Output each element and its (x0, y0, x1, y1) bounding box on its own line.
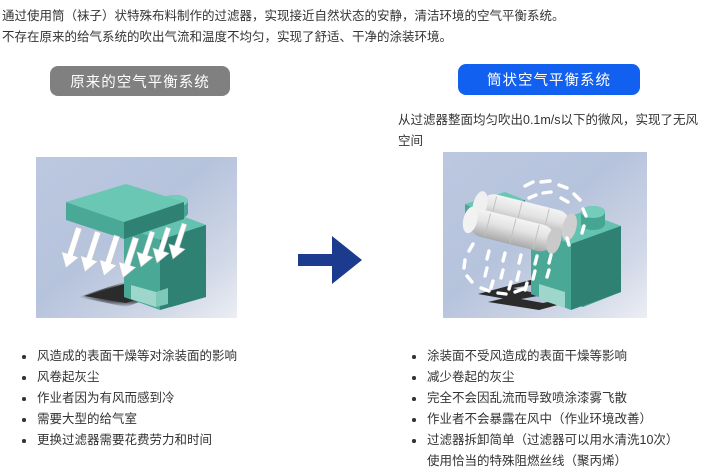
list-item: 过滤器拆卸简单（过滤器可以用水清洗10次） (412, 430, 702, 451)
intro-line-2: 不存在原来的给气系统的吹出气流和温度不均匀，实现了舒适、干净的涂装环境。 (2, 27, 708, 48)
old-system-badge-label: 原来的空气平衡系统 (70, 71, 210, 92)
intro-paragraph: 通过使用筒（袜子）状特殊布料制作的过滤器，实现接近自然状态的安静，清洁环境的空气… (2, 6, 708, 48)
list-item-continuation: 使用恰当的特殊阻燃丝线（聚丙烯） (412, 451, 702, 472)
list-item: 作业者因为有风而感到冷 (22, 388, 352, 409)
list-item: 涂装面不受风造成的表面干燥等影响 (412, 346, 702, 367)
list-item: 风卷起灰尘 (22, 367, 352, 388)
old-system-bullet-list: 风造成的表面干燥等对涂装面的影响 风卷起灰尘 作业者因为有风而感到冷 需要大型的… (22, 346, 352, 451)
right-arrow-icon (296, 234, 364, 286)
list-item: 需要大型的给气室 (22, 409, 352, 430)
new-system-illustration (443, 152, 647, 318)
new-system-badge-label: 筒状空气平衡系统 (487, 69, 611, 90)
list-item: 作业者不会暴露在风中（作业环境改善） (412, 409, 702, 430)
list-item: 风造成的表面干燥等对涂装面的影响 (22, 346, 352, 367)
new-system-bullet-list: 涂装面不受风造成的表面干燥等影响 减少卷起的灰尘 完全不会因乱流而导致喷涂漆雾飞… (412, 346, 702, 472)
new-system-caption: 从过滤器整面均匀吹出0.1m/s以下的微风，实现了无风空间 (398, 110, 698, 152)
old-system-illustration (36, 157, 237, 318)
list-item: 完全不会因乱流而导致喷涂漆雾飞散 (412, 388, 702, 409)
old-system-badge: 原来的空气平衡系统 (50, 66, 230, 96)
list-item: 更换过滤器需要花费劳力和时间 (22, 430, 352, 451)
new-system-badge: 筒状空气平衡系统 (458, 64, 640, 95)
intro-line-1: 通过使用筒（袜子）状特殊布料制作的过滤器，实现接近自然状态的安静，清洁环境的空气… (2, 6, 708, 27)
list-item: 减少卷起的灰尘 (412, 367, 702, 388)
